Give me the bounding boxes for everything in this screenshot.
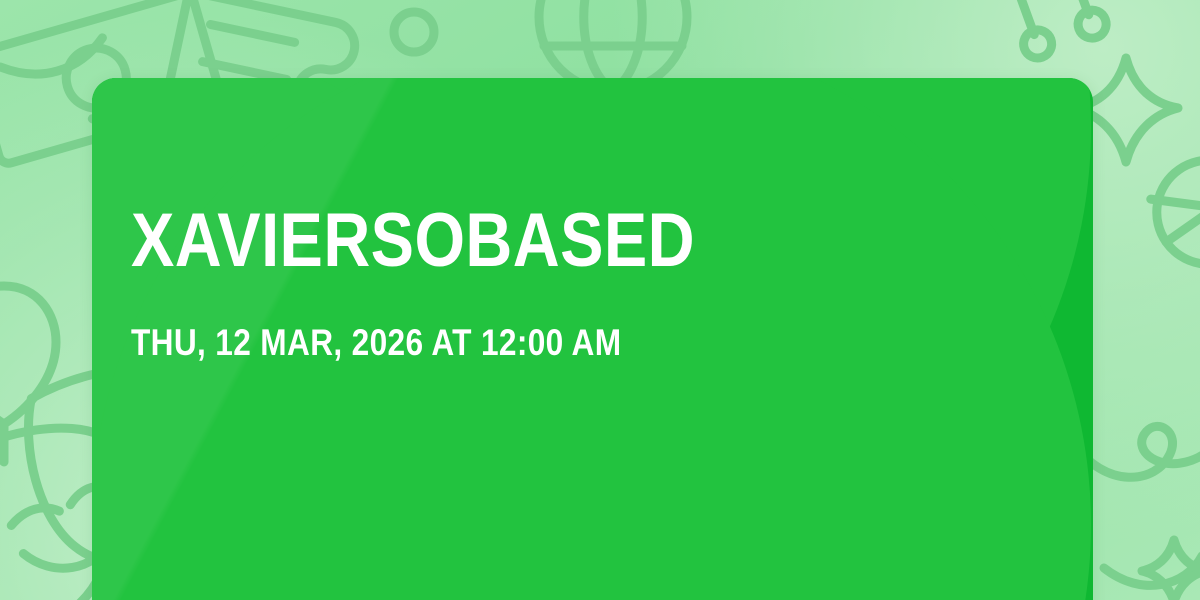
event-title: XavierSoBased — [131, 206, 919, 276]
event-datetime: Thu, 12 Mar, 2026 at 12:00 AM — [131, 324, 919, 361]
music-note-icon — [998, 0, 1110, 62]
card-text-block: XavierSoBased Thu, 12 Mar, 2026 at 12:00… — [131, 206, 1053, 361]
event-share-card-canvas: XavierSoBased Thu, 12 Mar, 2026 at 12:00… — [0, 0, 1200, 600]
sparkle-icon — [1142, 540, 1200, 600]
event-card[interactable]: XavierSoBased Thu, 12 Mar, 2026 at 12:00… — [92, 78, 1093, 600]
ring-icon — [394, 12, 434, 52]
microphone-icon — [1136, 117, 1200, 324]
